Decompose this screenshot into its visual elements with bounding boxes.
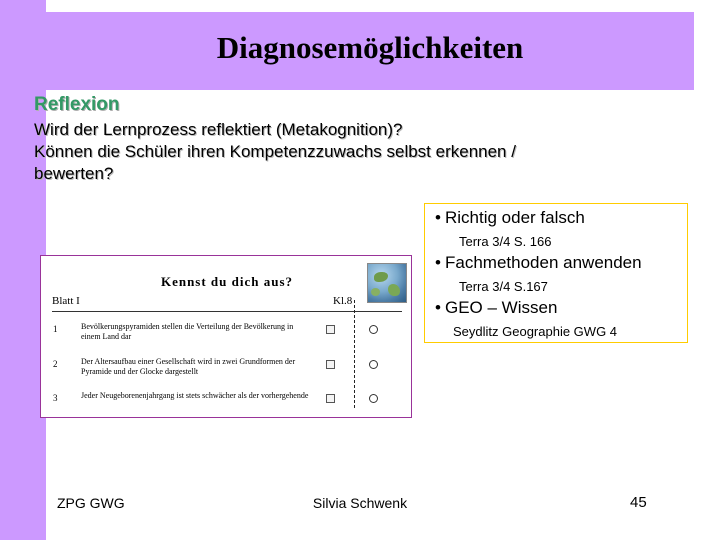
globe-landmass — [374, 272, 388, 282]
bullet-icon: • — [435, 298, 445, 318]
footer-center: Silvia Schwenk — [0, 495, 720, 511]
globe-icon — [367, 263, 407, 303]
worksheet-sheet-label: Blatt I — [52, 295, 80, 307]
list-item-source: Seydlitz Geographie GWG 4 — [453, 324, 617, 339]
list-item: •GEO – Wissen — [435, 298, 557, 318]
page-title: Diagnosemöglichkeiten — [46, 30, 694, 66]
worksheet-class-label: Kl.8 — [333, 295, 352, 307]
worksheet-dashed-divider — [354, 300, 355, 408]
list-item: •Richtig oder falsch — [435, 208, 585, 228]
globe-landmass — [388, 284, 400, 296]
bullet-icon: • — [435, 208, 445, 228]
list-item-label: GEO – Wissen — [445, 298, 557, 317]
page-number: 45 — [630, 494, 670, 511]
answer-radio[interactable] — [369, 325, 378, 334]
worksheet-image: Kennst du dich aus? Blatt I Kl.8 1 Bevöl… — [40, 255, 412, 418]
globe-landmass — [371, 288, 380, 296]
question-text: Bevölkerungspyramiden stellen die Vertei… — [81, 322, 309, 342]
slide: Diagnosemöglichkeiten Reflexion Wird der… — [0, 0, 720, 540]
section-heading: Reflexion — [34, 94, 120, 116]
body-line-3: bewerten? — [34, 163, 634, 185]
answer-checkbox[interactable] — [326, 394, 335, 403]
body-line-2: Können die Schüler ihren Kompetenzzuwach… — [34, 141, 634, 163]
question-number: 3 — [53, 393, 58, 403]
question-number: 2 — [53, 359, 58, 369]
list-item-label: Fachmethoden anwenden — [445, 253, 642, 272]
question-text: Jeder Neugeborenenjahrgang ist stets sch… — [81, 391, 309, 401]
answer-radio[interactable] — [369, 394, 378, 403]
answer-radio[interactable] — [369, 360, 378, 369]
worksheet-title: Kennst du dich aus? — [41, 274, 413, 290]
body-text: Wird der Lernprozess reflektiert (Metako… — [34, 119, 634, 185]
body-line-1: Wird der Lernprozess reflektiert (Metako… — [34, 119, 634, 141]
question-number: 1 — [53, 324, 58, 334]
worksheet-divider — [52, 311, 402, 312]
bullet-icon: • — [435, 253, 445, 273]
title-banner: Diagnosemöglichkeiten — [46, 12, 694, 90]
list-item: •Fachmethoden anwenden — [435, 253, 642, 273]
list-item-source: Terra 3/4 S. 166 — [459, 234, 552, 249]
list-item-source: Terra 3/4 S.167 — [459, 279, 548, 294]
list-item-label: Richtig oder falsch — [445, 208, 585, 227]
question-text: Der Altersaufbau einer Gesellschaft wird… — [81, 357, 309, 377]
answer-checkbox[interactable] — [326, 325, 335, 334]
sources-box: •Richtig oder falsch Terra 3/4 S. 166 •F… — [424, 203, 688, 343]
answer-checkbox[interactable] — [326, 360, 335, 369]
